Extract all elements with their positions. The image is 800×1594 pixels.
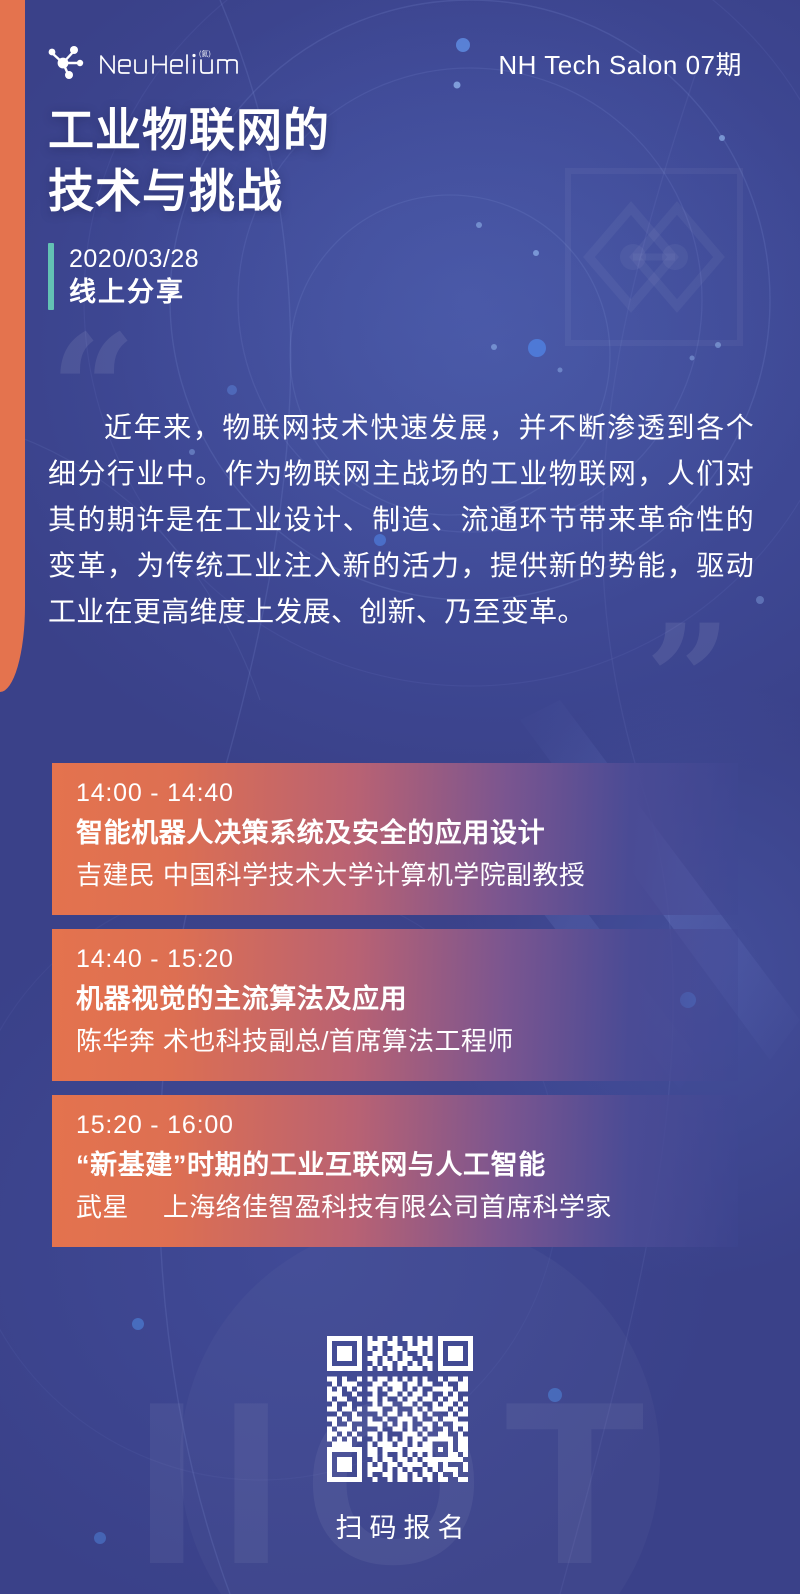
teal-accent-bar: [48, 243, 54, 310]
event-date-block: 2020/03/28 线上分享: [48, 243, 199, 310]
qr-code-icon[interactable]: [327, 1336, 473, 1482]
poster-content: (氦) NH Tech Salon 07期 工业物联网的 技术与挑战 2020/…: [0, 0, 800, 1594]
session-card: 14:00 - 14:40 智能机器人决策系统及安全的应用设计 吉建民 中国科学…: [52, 763, 738, 915]
qr-caption: 扫码报名: [329, 1506, 472, 1545]
svg-text:(氦): (氦): [199, 49, 211, 58]
event-date: 2020/03/28: [69, 243, 199, 275]
event-date-text: 2020/03/28 线上分享: [69, 243, 199, 310]
session-time: 14:00 - 14:40: [76, 777, 738, 811]
poster-header: (氦) NH Tech Salon 07期: [0, 36, 800, 90]
event-mode: 线上分享: [69, 275, 199, 310]
qr-registration-block: 扫码报名: [0, 1336, 800, 1545]
session-speaker: 吉建民 中国科学技术大学计算机学院副教授: [76, 857, 738, 895]
session-topic: 机器视觉的主流算法及应用: [76, 979, 738, 1020]
session-topic: “新基建”时期的工业互联网与人工智能: [76, 1145, 738, 1186]
session-topic: 智能机器人决策系统及安全的应用设计: [76, 813, 738, 854]
session-speaker: 陈华奔 术也科技副总/首席算法工程师: [76, 1023, 738, 1061]
session-card: 14:40 - 15:20 机器视觉的主流算法及应用 陈华奔 术也科技副总/首席…: [52, 929, 738, 1081]
session-card: 15:20 - 16:00 “新基建”时期的工业互联网与人工智能 武星 上海络佳…: [52, 1095, 738, 1247]
poster-root: IIOT “ ”: [0, 0, 800, 1594]
page-title: 工业物联网的 技术与挑战: [48, 100, 330, 221]
session-speaker: 武星 上海络佳智盈科技有限公司首席科学家: [76, 1189, 738, 1227]
session-time: 14:40 - 15:20: [76, 943, 738, 977]
schedule-list: 14:00 - 14:40 智能机器人决策系统及安全的应用设计 吉建民 中国科学…: [52, 763, 738, 1261]
session-time: 15:20 - 16:00: [76, 1109, 738, 1143]
brand-logo: (氦): [48, 46, 298, 80]
neuhelium-wordmark-icon: (氦): [98, 48, 298, 78]
intro-paragraph: 近年来，物联网技术快速发展，并不断渗透到各个细分行业中。作为物联网主战场的工业物…: [48, 405, 754, 635]
salon-label: NH Tech Salon 07期: [498, 45, 742, 82]
molecule-icon: [48, 46, 86, 80]
